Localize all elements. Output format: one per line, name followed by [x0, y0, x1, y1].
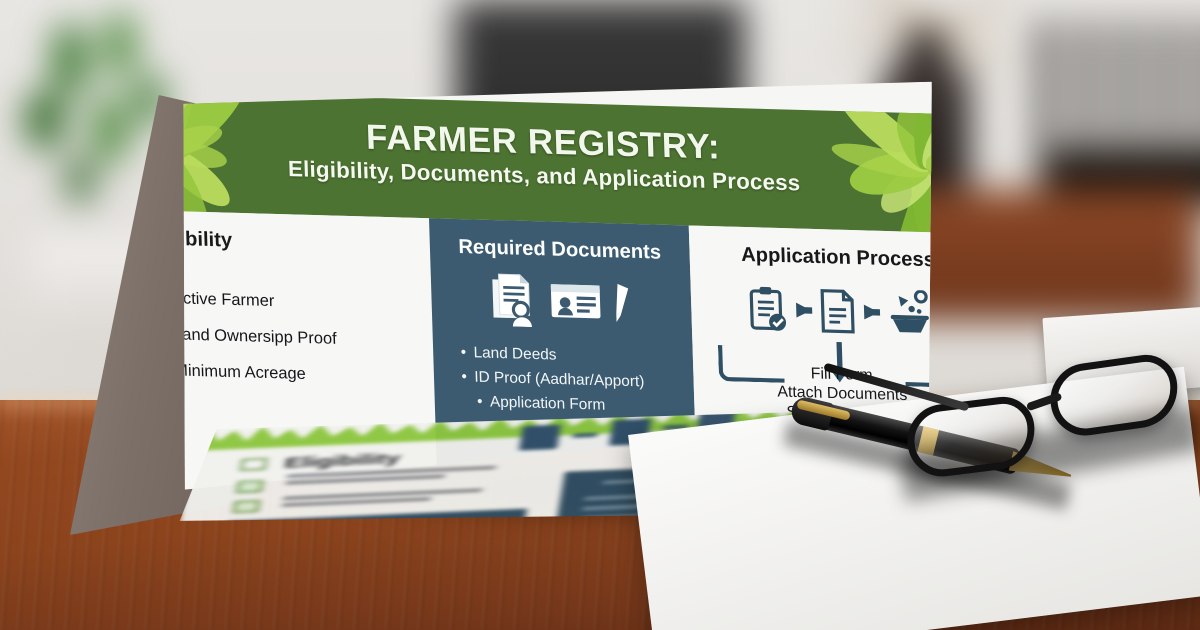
id-card-icon	[549, 282, 601, 322]
arrow-right-icon	[864, 305, 879, 320]
required-documents-heading: Required Documents	[430, 235, 690, 266]
arrow-right-icon	[796, 303, 811, 318]
clipboard-check-icon	[748, 285, 788, 333]
bottom-document-icon	[519, 425, 561, 451]
scene-root: FARMER REGISTRY: Eligibility, Documents,…	[0, 0, 1200, 630]
required-documents-bullets: Land Deeds ID Proof (Aadhar/Apport) Appl…	[460, 344, 645, 422]
bottom-checkbox-icon	[233, 500, 261, 513]
bottom-checkbox-icon	[236, 480, 264, 493]
document-bullet: Land Deeds	[460, 344, 643, 366]
document-bullet: ID Proof (Aadhar/Apport)	[461, 369, 644, 391]
required-documents-icons	[431, 267, 693, 336]
document-bullet: Application Form	[477, 393, 646, 415]
bottom-checkbox-icon	[240, 458, 268, 471]
glasses-left-lens	[903, 393, 1039, 480]
eligibility-heading: Eligibility	[142, 227, 430, 258]
pencil-icon	[613, 282, 636, 325]
inbox-tray-icon	[888, 289, 932, 337]
eligibility-item-label: Active Farmer	[172, 289, 275, 311]
eligibility-item-label: Minimum Acreage	[174, 362, 306, 385]
eligibility-item-label: Land Ownersipp Proof	[173, 326, 337, 350]
application-process-heading: Application Process	[689, 242, 987, 274]
documents-person-icon	[487, 273, 537, 327]
bottom-panel-line	[244, 552, 434, 563]
application-process-flow	[690, 272, 989, 350]
glasses-right-lens	[1046, 351, 1183, 440]
document-icon	[820, 289, 855, 335]
bottom-eligibility-heading: Eligibility	[283, 450, 401, 472]
bottom-arrow-icon	[573, 433, 598, 438]
